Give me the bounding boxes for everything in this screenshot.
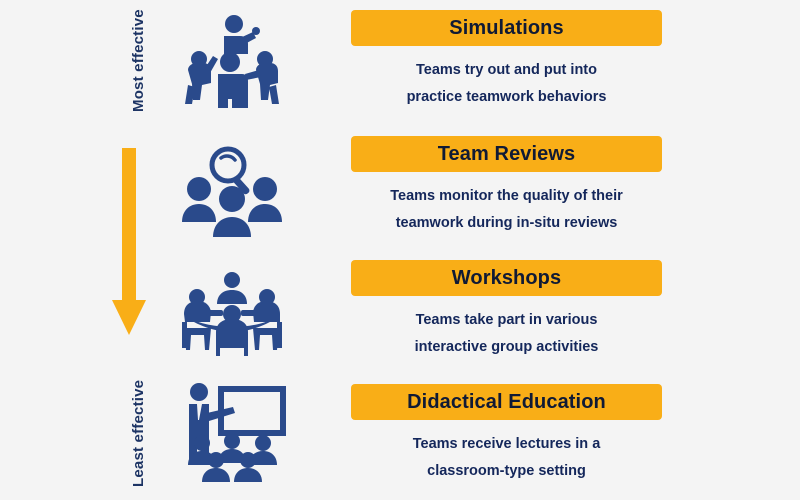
row-workshops: Workshops Teams take part in various int… xyxy=(351,260,662,361)
title-text: Team Reviews xyxy=(438,143,576,166)
title-bar-workshops[interactable]: Workshops xyxy=(351,260,662,296)
row-didactical-education: Didactical Education Teams receive lectu… xyxy=(351,384,662,485)
description-line: Teams try out and put into xyxy=(351,57,662,84)
icon-human-pyramid-teamwork xyxy=(172,7,292,117)
title-bar-didactical-education[interactable]: Didactical Education xyxy=(351,384,662,420)
icon-magnifier-over-people xyxy=(172,138,292,248)
scale-label-least-effective: Least effective xyxy=(130,380,147,487)
description-line: classroom-type setting xyxy=(351,458,662,485)
description-line: Teams receive lectures in a xyxy=(351,431,662,458)
description-line: Teams monitor the quality of their xyxy=(351,183,662,210)
description-team-reviews: Teams monitor the quality of their teamw… xyxy=(351,183,662,237)
infographic-canvas: Most effective Least effective xyxy=(0,0,800,500)
title-bar-simulations[interactable]: Simulations xyxy=(351,10,662,46)
title-text: Didactical Education xyxy=(407,391,606,414)
description-workshops: Teams take part in various interactive g… xyxy=(351,307,662,361)
icon-round-table-meeting xyxy=(172,258,292,368)
classroom-lecture-icon xyxy=(177,381,287,485)
icon-classroom-lecture xyxy=(172,378,292,488)
description-line: teamwork during in-situ reviews xyxy=(351,210,662,237)
magnifier-over-people-icon xyxy=(180,145,284,241)
row-simulations: Simulations Teams try out and put into p… xyxy=(351,10,662,111)
title-text: Simulations xyxy=(449,17,563,40)
title-text: Workshops xyxy=(452,267,561,290)
description-line: interactive group activities xyxy=(351,334,662,361)
round-table-meeting-icon xyxy=(176,270,288,356)
description-line: Teams take part in various xyxy=(351,307,662,334)
description-didactical-education: Teams receive lectures in a classroom-ty… xyxy=(351,431,662,485)
description-simulations: Teams try out and put into practice team… xyxy=(351,57,662,111)
description-line: practice teamwork behaviors xyxy=(351,84,662,111)
human-pyramid-teamwork-icon xyxy=(180,12,284,112)
title-bar-team-reviews[interactable]: Team Reviews xyxy=(351,136,662,172)
row-team-reviews: Team Reviews Teams monitor the quality o… xyxy=(351,136,662,237)
